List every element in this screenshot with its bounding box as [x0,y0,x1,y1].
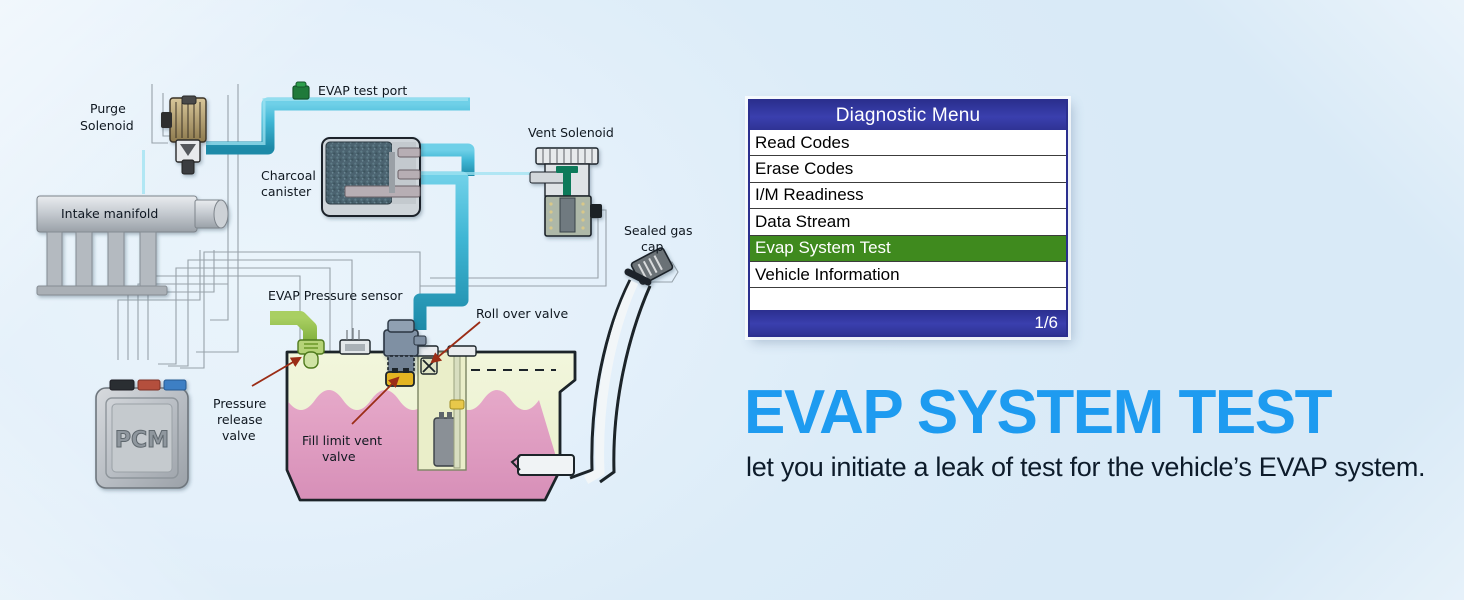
tank-top-connector [340,328,370,354]
label-intake-manifold: Intake manifold [61,206,158,221]
tank-outlet-pipe [512,455,574,475]
page-subtitle: let you initiate a leak of test for the … [746,452,1425,483]
scanner-screen: Diagnostic Menu Read Codes Erase Codes I… [748,99,1068,337]
diagnostic-menu-list[interactable]: Read Codes Erase Codes I/M Readiness Dat… [750,130,1066,315]
evap-diagram-svg: Intake manifold [0,0,720,600]
vent-solenoid [530,148,602,236]
purge-solenoid [161,96,206,174]
menu-item-vehicle-information[interactable]: Vehicle Information [750,262,1066,288]
pcm-module: PCM [96,380,188,488]
filler-neck [570,280,650,482]
evap-test-port [293,82,309,99]
label-charcoal-line2: canister [261,184,312,199]
label-sealed-gas-cap-line1: Sealed gas [624,223,692,238]
label-fill-limit-line2: valve [322,449,356,464]
menu-item-evap-system-test[interactable]: Evap System Test [750,236,1066,262]
diagnostic-menu-title: Diagnostic Menu [750,101,1066,130]
label-evap-pressure-sensor: EVAP Pressure sensor [268,288,403,303]
label-pressure-release-line3: valve [222,428,256,443]
menu-page-indicator: 1/6 [750,310,1066,335]
label-roll-over-valve: Roll over valve [476,306,568,321]
label-charcoal-line1: Charcoal [261,168,316,183]
label-evap-test-port: EVAP test port [318,83,407,98]
label-purge-solenoid-line2: Solenoid [80,118,134,133]
page-title: EVAP SYSTEM TEST [744,382,1331,444]
evap-system-diagram: Intake manifold [0,0,720,600]
right-content-panel: Diagnostic Menu Read Codes Erase Codes I… [740,0,1464,600]
label-fill-limit-line1: Fill limit vent [302,433,382,448]
label-sealed-gas-cap-line2: cap [641,239,664,254]
fuel-pump-module [410,346,476,470]
label-pressure-release-line2: release [217,412,263,427]
label-pressure-release-line1: Pressure [213,396,267,411]
menu-item-erase-codes[interactable]: Erase Codes [750,156,1066,182]
intake-manifold: Intake manifold [37,196,228,295]
label-purge-solenoid-line1: Purge [90,101,126,116]
charcoal-canister [322,138,420,216]
label-pcm: PCM [115,428,169,453]
label-vent-solenoid: Vent Solenoid [528,125,614,140]
menu-item-data-stream[interactable]: Data Stream [750,209,1066,235]
menu-item-read-codes[interactable]: Read Codes [750,130,1066,156]
slide-canvas: Intake manifold [0,0,1464,600]
menu-item-im-readiness[interactable]: I/M Readiness [750,183,1066,209]
